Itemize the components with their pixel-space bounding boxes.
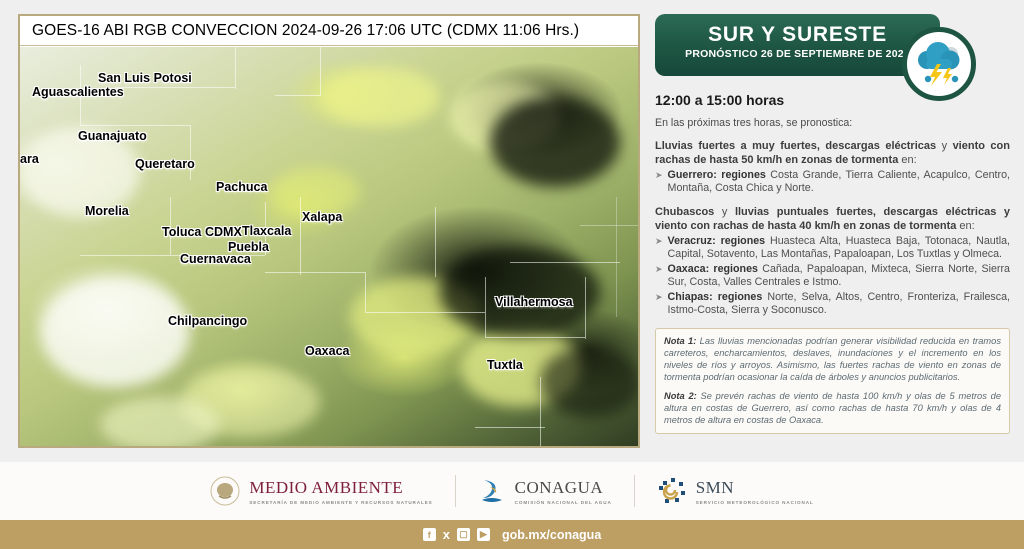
regions-label: regiones (721, 235, 766, 247)
forecast-headline: Lluvias fuertes a muy fuertes, descargas… (655, 140, 1010, 167)
footer-logos: MEDIO AMBIENTE SECRETARÍA DE MEDIO AMBIE… (0, 462, 1024, 520)
coastline (510, 262, 620, 263)
cloud-blob (490, 97, 620, 187)
state-border (485, 337, 585, 338)
conagua-wave-icon (478, 476, 506, 506)
facebook-icon[interactable]: f (423, 528, 436, 541)
bullet-text: Oaxaca: regiones Cañada, Papaloapan, Mix… (668, 263, 1010, 289)
headline-conjunction: y (714, 206, 735, 218)
city-label: Oaxaca (305, 344, 349, 358)
forecast-block: Chubascos y lluvias puntuales fuertes, d… (655, 206, 1010, 317)
city-label: Chilpancingo (168, 314, 247, 328)
headline-conjunction: y (936, 140, 952, 152)
coastline (475, 427, 545, 428)
arrow-bullet-icon: ➤ (655, 263, 663, 289)
mexico-eagle-seal-icon (210, 476, 240, 506)
city-label: Tuxtla (487, 358, 523, 372)
cloud-blob (450, 82, 560, 152)
headline-tail: en: (956, 220, 974, 232)
city-label: Toluca (162, 225, 201, 239)
website-url[interactable]: gob.mx/conagua (502, 528, 601, 542)
state-border (80, 125, 190, 126)
thunderstorm-icon (902, 27, 976, 101)
note: Nota 1: Las lluvias mencionadas podrían … (664, 335, 1001, 383)
logo-conagua: CONAGUA COMISIÓN NACIONAL DEL AGUA (478, 476, 612, 506)
bullet-text: Veracruz: regiones Huasteca Alta, Huaste… (668, 235, 1010, 261)
smn-spiral-icon (657, 476, 687, 506)
cloud-blob (40, 277, 190, 387)
forecast-date: PRONÓSTICO 26 DE SEPTIEMBRE DE 2024 (655, 48, 940, 60)
footer-divider (634, 475, 635, 507)
forecast-panel: SUR Y SURESTE PRONÓSTICO 26 DE SEPTIEMBR… (655, 14, 1010, 448)
arrow-bullet-icon: ➤ (655, 169, 663, 195)
regions-label: regiones (721, 169, 766, 181)
logo-sublabel: SERVICIO METEOROLÓGICO NACIONAL (696, 500, 814, 505)
note-label: Nota 1: (664, 336, 696, 346)
state-border (235, 47, 236, 89)
city-label: Tlaxcala (242, 224, 291, 238)
state-name: Chiapas: (668, 291, 713, 303)
regions-list: Costa Grande, Tierra Caliente, Acapulco,… (668, 169, 1010, 194)
forecast-blocks: Lluvias fuertes a muy fuertes, descargas… (655, 140, 1010, 317)
logo-label: SMN (696, 478, 814, 498)
map-title: GOES-16 ABI RGB CONVECCION 2024-09-26 17… (20, 16, 638, 46)
forecast-block: Lluvias fuertes a muy fuertes, descargas… (655, 140, 1010, 195)
headline-tail: en: (898, 154, 916, 166)
state-border (365, 312, 485, 313)
region-title: SUR Y SURESTE (655, 22, 940, 47)
city-label: Cuernavaca (180, 252, 251, 266)
regions-label: regiones (718, 291, 763, 303)
cloud-blob (320, 67, 440, 127)
note-label: Nota 2: (664, 391, 697, 401)
grid-line (616, 197, 617, 317)
city-label: ara (20, 152, 39, 166)
state-border (190, 125, 191, 180)
state-name: Veracruz: (668, 235, 716, 247)
coastline (540, 377, 541, 446)
city-label: San Luis Potosi (98, 71, 192, 85)
logo-label: MEDIO AMBIENTE (249, 478, 432, 498)
arrow-bullet-icon: ➤ (655, 235, 663, 261)
city-label: Pachuca (216, 180, 267, 194)
state-border (80, 255, 170, 256)
grid-line (580, 225, 638, 226)
city-label: Xalapa (302, 210, 342, 224)
note-text: Las lluvias mencionadas podrían generar … (664, 336, 1001, 382)
forecast-bullet: ➤Oaxaca: regiones Cañada, Papaloapan, Mi… (655, 263, 1010, 289)
coastline (435, 207, 436, 277)
city-label: Aguascalientes (32, 85, 124, 99)
x-twitter-icon[interactable]: x (443, 528, 450, 541)
state-border (485, 277, 486, 337)
state-border (365, 272, 366, 312)
forecast-bullet: ➤Chiapas: regiones Norte, Selva, Altos, … (655, 291, 1010, 317)
note: Nota 2: Se prevén rachas de viento de ha… (664, 390, 1001, 426)
headline-bold-primary: Lluvias fuertes a muy fuertes, descargas… (655, 140, 936, 152)
city-label: Morelia (85, 204, 129, 218)
logo-label: CONAGUA (515, 478, 612, 498)
satellite-map-panel: GOES-16 ABI RGB CONVECCION 2024-09-26 17… (18, 14, 640, 448)
headline-bold-primary: Chubascos (655, 206, 714, 218)
city-label: Guanajuato (78, 129, 147, 143)
satellite-image: San Luis PotosiAguascalientesGuanajuatoQ… (20, 47, 638, 446)
cloud-blob (180, 367, 320, 437)
social-bar: f x ▢ ▶ gob.mx/conagua (0, 520, 1024, 549)
logo-medio-ambiente: MEDIO AMBIENTE SECRETARÍA DE MEDIO AMBIE… (210, 476, 432, 506)
youtube-icon[interactable]: ▶ (477, 528, 490, 541)
coastline (300, 197, 301, 275)
city-label: Villahermosa (495, 295, 573, 309)
forecast-bullet: ➤Veracruz: regiones Huasteca Alta, Huast… (655, 235, 1010, 261)
logo-sublabel: SECRETARÍA DE MEDIO AMBIENTE Y RECURSOS … (249, 500, 432, 505)
coastline (320, 47, 321, 95)
bullet-text: Guerrero: regiones Costa Grande, Tierra … (668, 169, 1010, 195)
state-border (265, 272, 365, 273)
regions-label: regiones (713, 263, 758, 275)
cloud-blob (540, 347, 638, 417)
cloud-blob (100, 397, 220, 446)
footer-divider (455, 475, 456, 507)
instagram-icon[interactable]: ▢ (457, 528, 470, 541)
cloud-blob (440, 247, 600, 337)
intro-text: En las próximas tres horas, se pronostic… (655, 117, 1010, 129)
notes-box: Nota 1: Las lluvias mencionadas podrían … (655, 328, 1010, 434)
state-border (585, 277, 586, 339)
forecast-bullet: ➤Guerrero: regiones Costa Grande, Tierra… (655, 169, 1010, 195)
logo-sublabel: COMISIÓN NACIONAL DEL AGUA (515, 500, 612, 505)
cloud-blob (350, 277, 480, 357)
city-label: CDMX (205, 225, 242, 239)
city-label: Queretaro (135, 157, 195, 171)
regions-list: Huasteca Alta, Huasteca Baja, Totonaca, … (668, 235, 1010, 260)
note-text: Se prevén rachas de viento de hasta 100 … (664, 391, 1001, 425)
coastline (275, 95, 321, 96)
state-name: Oaxaca: (668, 263, 710, 275)
bullet-text: Chiapas: regiones Norte, Selva, Altos, C… (668, 291, 1010, 317)
region-banner: SUR Y SURESTE PRONÓSTICO 26 DE SEPTIEMBR… (655, 14, 940, 76)
logo-smn: SMN SERVICIO METEOROLÓGICO NACIONAL (657, 476, 814, 506)
arrow-bullet-icon: ➤ (655, 291, 663, 317)
state-name: Guerrero: (668, 169, 717, 181)
state-border (115, 87, 235, 88)
forecast-headline: Chubascos y lluvias puntuales fuertes, d… (655, 206, 1010, 233)
